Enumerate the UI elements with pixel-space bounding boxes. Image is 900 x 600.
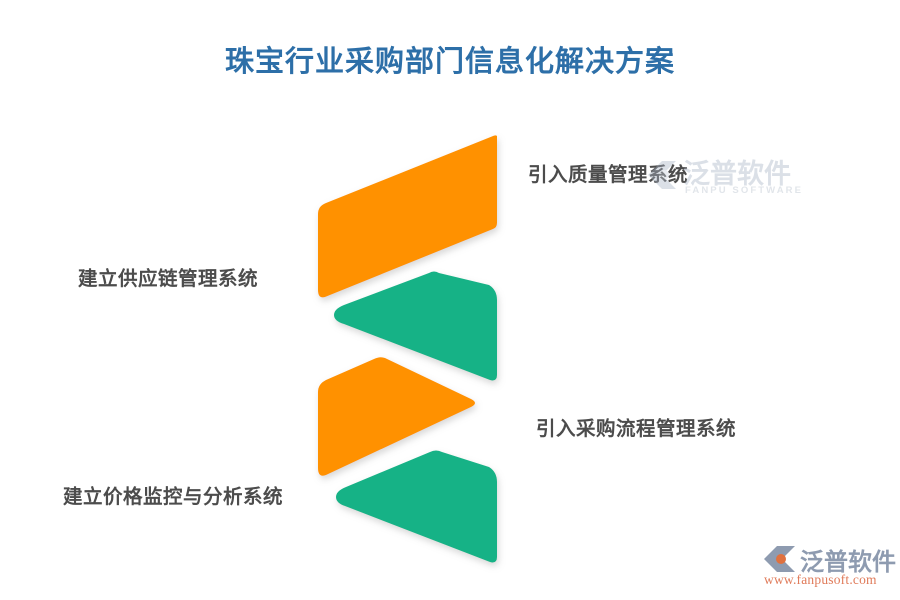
funnel-step-4-shape — [336, 451, 497, 563]
funnel-step-2-shape — [334, 272, 497, 381]
watermark-cn-text: 泛普软件 — [683, 152, 791, 191]
brand-url-text: www.fanpusoft.com — [764, 572, 877, 588]
funnel-label-introduce-procurement-process-management-system: 引入采购流程管理系统 — [536, 412, 736, 441]
brand-logo: 泛普软件 www.fanpusoft.com — [762, 542, 898, 592]
funnel-step-1-shape — [318, 135, 497, 297]
fanpu-brand-icon — [762, 544, 798, 574]
page-title: 珠宝行业采购部门信息化解决方案 — [0, 38, 900, 80]
slide-canvas: 珠宝行业采购部门信息化解决方案 引入质量管理系统 建立供应链管理系统 引入采购流… — [0, 0, 900, 600]
funnel-label-establish-price-monitoring-analysis-system: 建立价格监控与分析系统 — [63, 480, 283, 509]
funnel-label-establish-supply-chain-management-system: 建立供应链管理系统 — [78, 262, 258, 291]
watermark-en-text: FANPU SOFTWARE — [685, 185, 803, 196]
funnel-label-introduce-quality-management-system: 引入质量管理系统 — [528, 158, 688, 187]
zigzag-funnel-diagram — [290, 110, 530, 590]
